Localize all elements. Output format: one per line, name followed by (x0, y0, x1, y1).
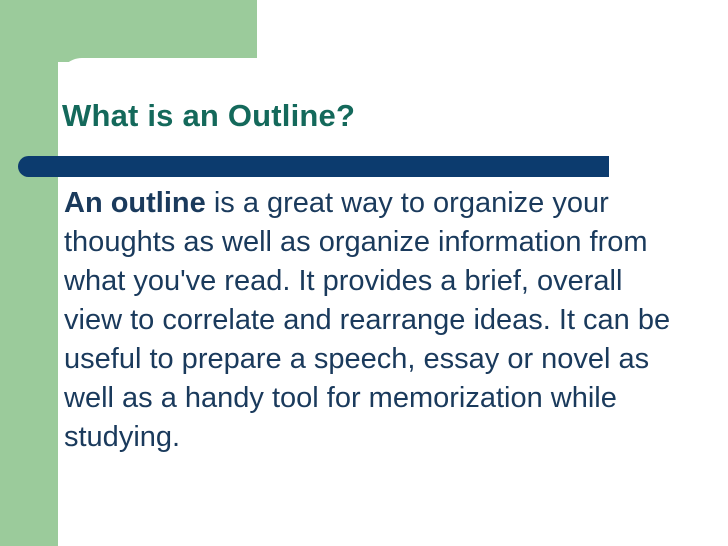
slide-body-text: An outline is a great way to organize yo… (64, 184, 684, 457)
body-lead-phrase: An outline (64, 187, 206, 219)
slide-title: What is an Outline? (62, 98, 662, 134)
body-remainder-text: is a great way to organize your thoughts… (64, 187, 670, 453)
slide-canvas: What is an Outline? An outline is a grea… (0, 0, 728, 546)
green-top-block-decoration (0, 0, 257, 62)
title-underline-bar (18, 156, 609, 177)
green-left-strip-decoration (0, 0, 58, 546)
